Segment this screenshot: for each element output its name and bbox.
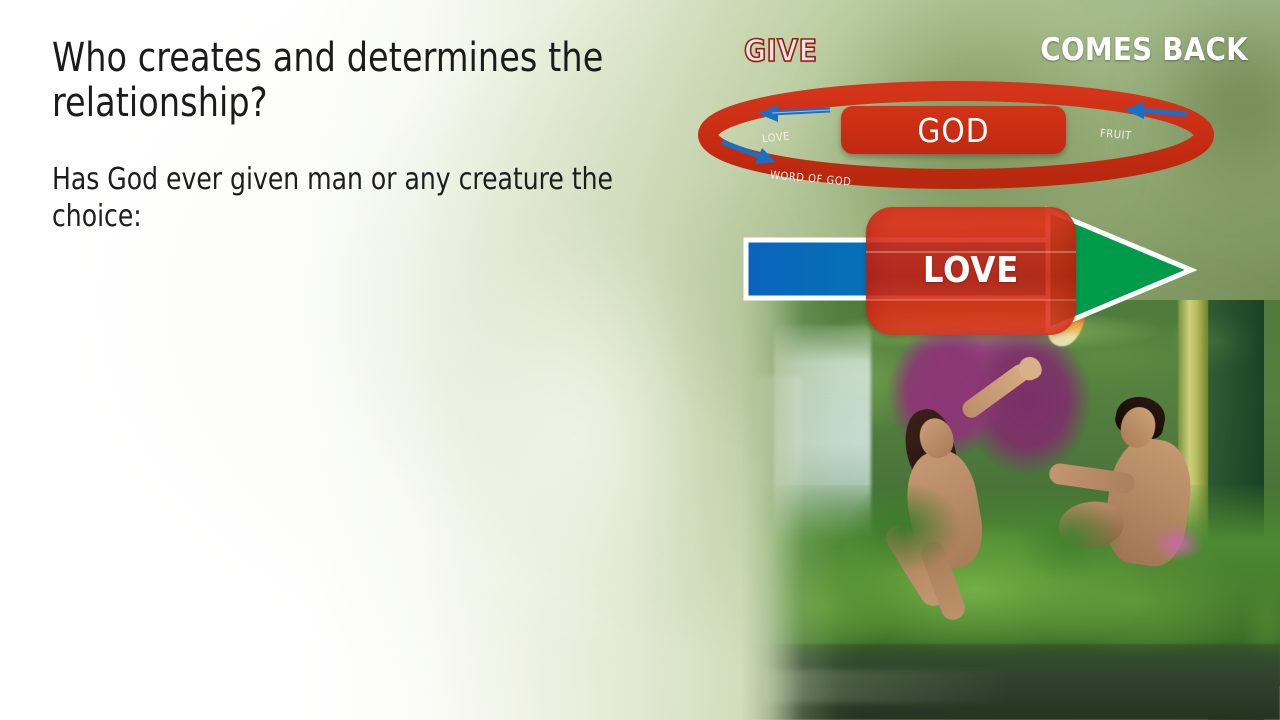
garden-of-eden-image (742, 300, 1280, 720)
god-label: GOD (917, 114, 989, 147)
garden-image-layers (742, 300, 1280, 720)
god-box: GOD (841, 106, 1066, 154)
love-arrow-graphic: LOVE (742, 196, 1197, 346)
ring-label-fruit: FRUIT (1099, 127, 1132, 143)
text-block: Who creates and determines the relations… (52, 36, 672, 236)
slide-canvas: Who creates and determines the relations… (0, 0, 1280, 720)
comes-back-label: COMES BACK (1040, 32, 1248, 68)
image-edge-fade (742, 300, 1280, 720)
love-band: LOVE (866, 207, 1076, 335)
give-label: GIVE (744, 34, 818, 69)
page-title: Who creates and determines the relations… (52, 36, 629, 126)
give-comes-back-cycle-diagram: GIVE COMES BACK GOD LOVE FRUIT WORD OF G… (700, 30, 1260, 180)
love-label: LOVE (923, 253, 1019, 289)
subtitle-text: Has God ever given man or any creature t… (52, 162, 629, 235)
